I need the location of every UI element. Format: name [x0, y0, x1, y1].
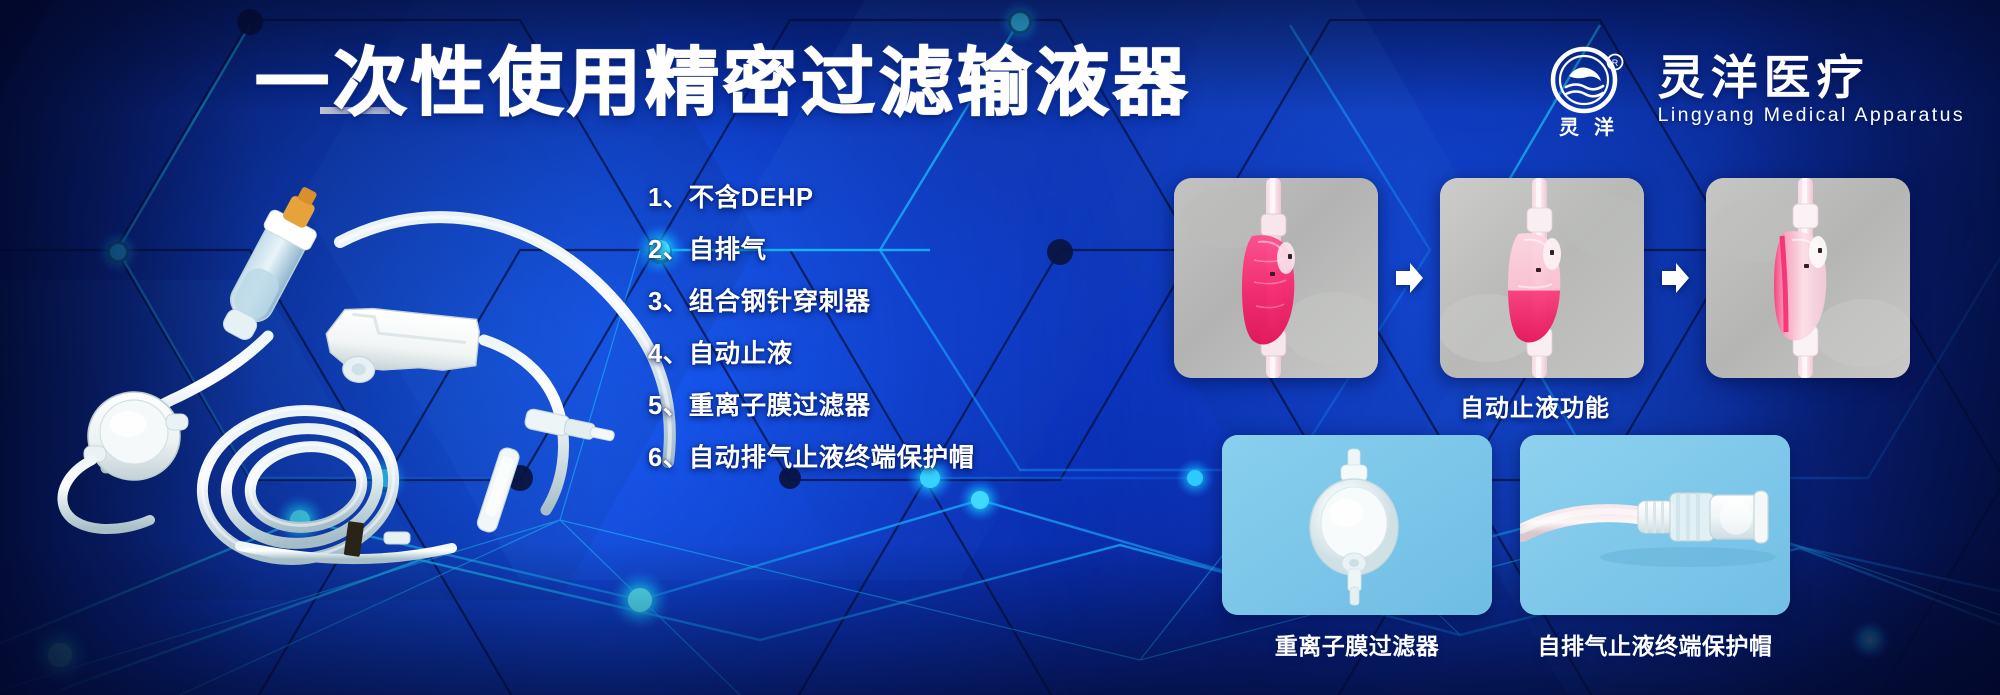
seal-char-right: 洋 — [1594, 115, 1614, 138]
sequence-thumb-2 — [1440, 178, 1644, 378]
sequence-caption: 自动止液功能 — [1174, 388, 1896, 423]
seal-char-left: 灵 — [1559, 116, 1580, 138]
sequence-thumb-1 — [1174, 178, 1378, 378]
feature-item-5: 5、重离子膜过滤器 — [648, 380, 1008, 432]
brand-name-en: Lingyang Medical Apparatus — [1658, 104, 1965, 127]
company-seal-icon: R 灵 洋 — [1542, 42, 1632, 138]
svg-text:R: R — [1611, 58, 1618, 68]
page-title-wrap: 一次性使用精密过滤输液器 — [255, 46, 1191, 120]
feature-item-6: 6、自动排气止液终端保护帽 — [648, 432, 1008, 484]
product-banner: 一次性使用精密过滤输液器 R 灵 洋 灵洋医疗 Lingyang Medical… — [0, 0, 2000, 695]
sequence-arrow-2 — [1644, 178, 1706, 378]
hero-product-image — [40, 150, 680, 570]
sequence-thumb-3 — [1706, 178, 1910, 378]
panel-captions: 重离子膜过滤器 自排气止液终端保护帽 — [1222, 627, 1790, 661]
feature-item-4: 4、自动止液 — [648, 328, 1008, 380]
auto-stop-sequence — [1174, 178, 1910, 378]
panel-caption-end-cap: 自排气止液终端保护帽 — [1520, 627, 1790, 661]
sequence-arrow-1 — [1378, 178, 1440, 378]
brand-text: 灵洋医疗 Lingyang Medical Apparatus — [1658, 53, 1965, 128]
page-title: 一次性使用精密过滤输液器 — [255, 46, 1191, 120]
panel-end-cap — [1520, 435, 1790, 615]
brand-logo: R 灵 洋 灵洋医疗 Lingyang Medical Apparatus — [1542, 42, 1965, 138]
feature-item-1: 1、不含DEHP — [648, 172, 1008, 224]
panel-caption-filter: 重离子膜过滤器 — [1222, 627, 1492, 661]
feature-item-3: 3、组合钢针穿刺器 — [648, 276, 1008, 328]
feature-list: 1、不含DEHP 2、自排气 3、组合钢针穿刺器 4、自动止液 5、重离子膜过滤… — [648, 172, 1008, 484]
feature-item-2: 2、自排气 — [648, 224, 1008, 276]
brand-name-cn: 灵洋医疗 — [1658, 53, 1965, 103]
panel-filter — [1222, 435, 1492, 615]
product-detail-panels — [1222, 435, 1790, 615]
